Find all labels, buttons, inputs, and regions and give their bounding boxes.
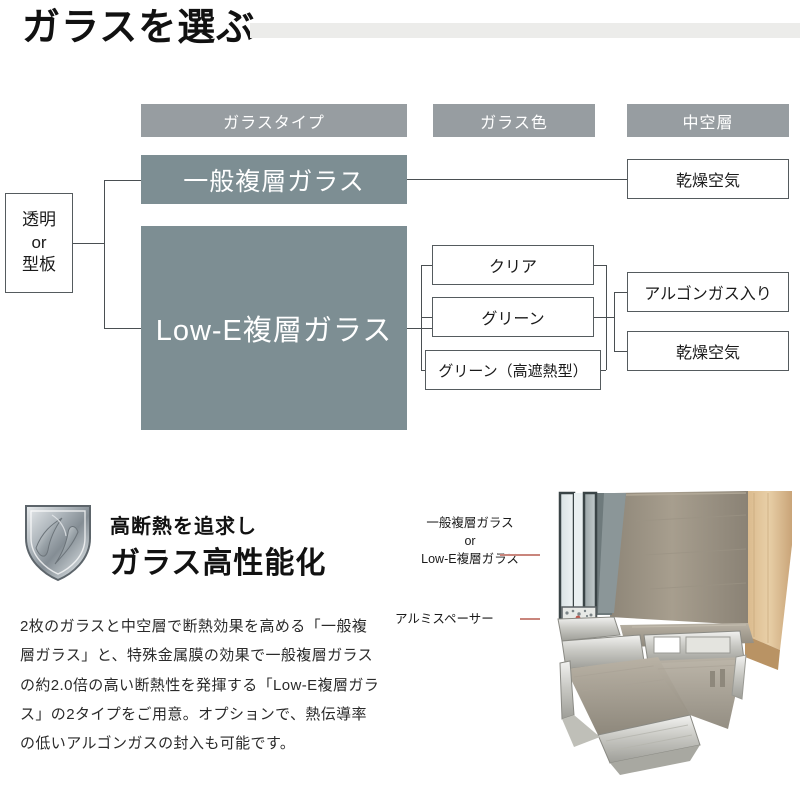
- page-title: ガラスを選ぶ: [22, 6, 255, 52]
- title-accent-bar: [250, 23, 800, 38]
- window-cross-section-photo: [540, 485, 800, 775]
- column-header-glass-type: ガラスタイプ: [141, 104, 407, 137]
- connector-gas-spine: [614, 292, 615, 351]
- connector-green-out: [594, 317, 606, 318]
- glass-color-green: グリーン: [432, 297, 594, 337]
- connector-to-argon: [614, 292, 627, 293]
- feature-heading: ガラス高性能化: [110, 538, 326, 582]
- source-box-line-2: or: [31, 232, 46, 255]
- connector-to-green: [421, 317, 432, 318]
- connector-general-to-dryair: [407, 179, 627, 180]
- source-box-line-3: 型板: [22, 254, 56, 277]
- callout-glass-line-1: 一般複層ガラス: [426, 516, 513, 530]
- window-cross-section-illustration: [540, 485, 800, 775]
- air-layer-lowe-dry-air: 乾燥空気: [627, 331, 789, 371]
- connector-to-clear: [421, 265, 432, 266]
- source-box-glass-surface: 透明 or 型板: [5, 193, 73, 293]
- column-header-glass-color: ガラス色: [433, 104, 595, 137]
- connector-lowe-stem: [407, 328, 432, 329]
- page-header: ガラスを選ぶ: [0, 0, 800, 70]
- connector-to-dryair-lowe: [614, 351, 627, 352]
- callout-spacer-label: アルミスペーサー: [395, 610, 515, 628]
- page-root: ガラスを選ぶ ガラスタイプ ガラス色 中空層 透明 or 型板 一般複層ガラス …: [0, 0, 800, 800]
- feature-body-text: 2枚のガラスと中空層で断熱効果を高める「一般複層ガラス」と、特殊金属膜の効果で一…: [20, 612, 380, 758]
- connector-left-stem: [73, 243, 104, 244]
- air-layer-argon: アルゴンガス入り: [627, 272, 789, 312]
- connector-green-heat-out: [601, 370, 606, 371]
- column-header-air-layer: 中空層: [627, 104, 789, 137]
- glass-selection-diagram: ガラスタイプ ガラス色 中空層 透明 or 型板 一般複層ガラス Low-E複層…: [0, 75, 800, 465]
- glass-type-lowe: Low-E複層ガラス: [141, 226, 407, 430]
- glass-type-general: 一般複層ガラス: [141, 155, 407, 204]
- connector-to-general: [104, 180, 142, 181]
- shield-emblem-icon: [22, 502, 94, 582]
- glass-color-green-high-shading: グリーン（高遮熱型）: [425, 350, 601, 390]
- glass-color-clear: クリア: [432, 245, 594, 285]
- connector-left-spine: [104, 180, 105, 328]
- callout-glass-line-2: or: [464, 534, 475, 548]
- feature-subheading: 高断熱を追求し: [110, 510, 257, 539]
- callout-spacer-line-1: アルミスペーサー: [395, 612, 494, 626]
- source-box-line-1: 透明: [22, 209, 56, 232]
- air-layer-general-dry-air: 乾燥空気: [627, 159, 789, 199]
- connector-to-lowe: [104, 328, 142, 329]
- callout-glass-label: 一般複層ガラス or Low-E複層ガラス: [395, 514, 545, 568]
- connector-merge-stem: [606, 317, 614, 318]
- connector-clear-out: [594, 265, 606, 266]
- feature-section: 高断熱を追求し ガラス高性能化 2枚のガラスと中空層で断熱効果を高める「一般複層…: [0, 470, 800, 800]
